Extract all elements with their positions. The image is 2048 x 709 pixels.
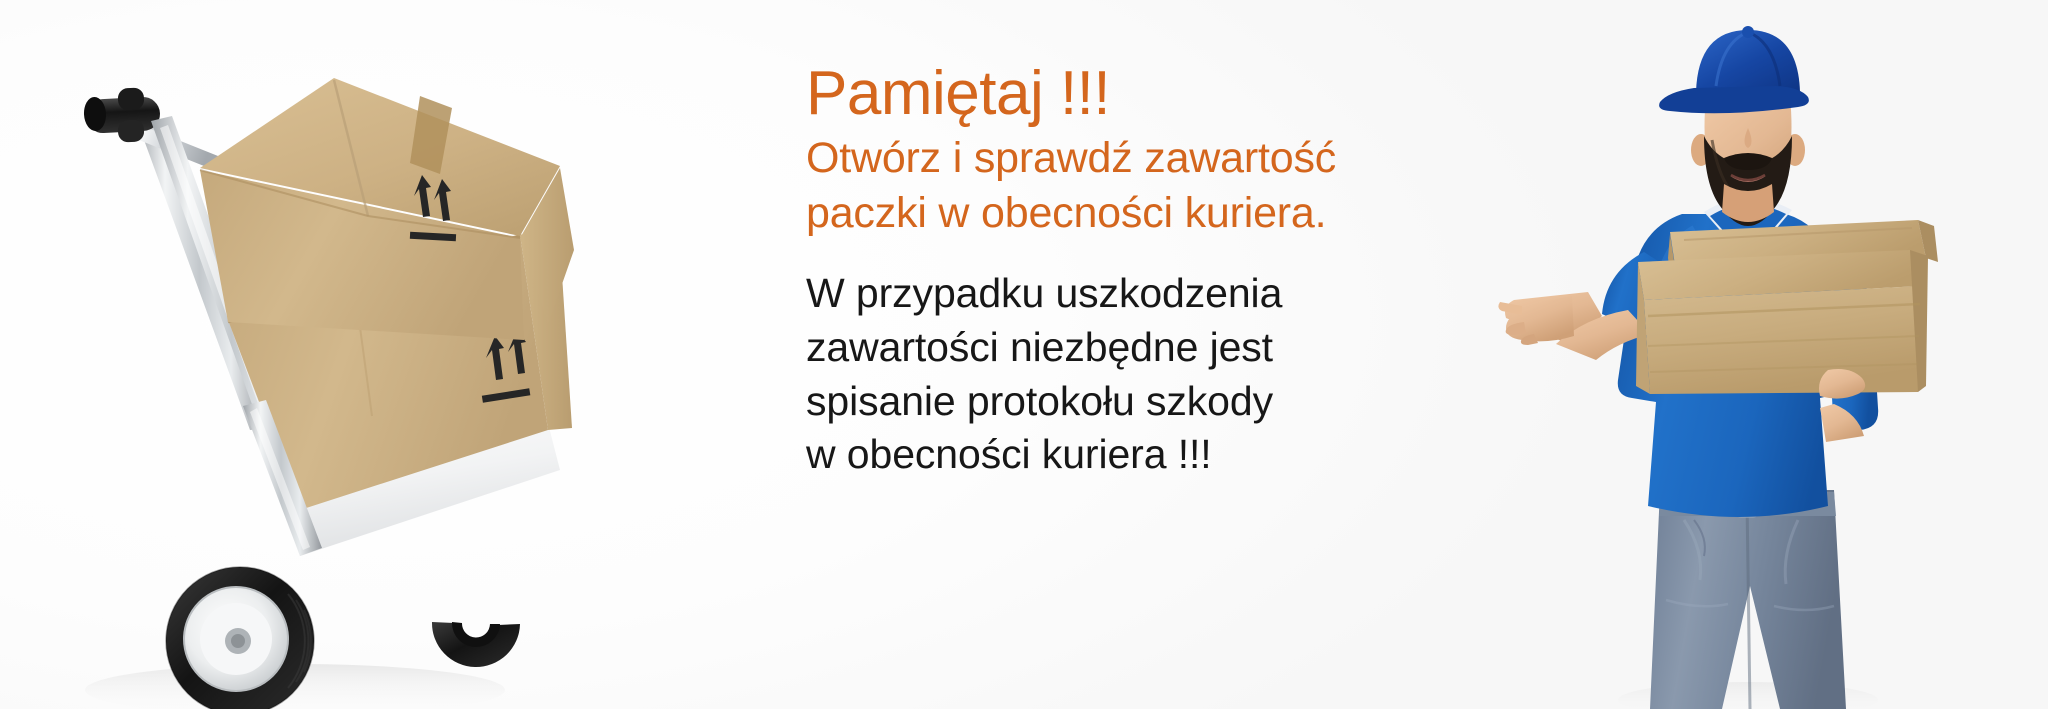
banner-subheadline-line-1: Otwórz i sprawdź zawartość bbox=[806, 131, 1506, 186]
upper-carton bbox=[200, 78, 574, 340]
delivery-man-illustration bbox=[1498, 0, 2048, 709]
hand-truck-illustration bbox=[0, 0, 640, 709]
courier-baseball-cap bbox=[1659, 26, 1809, 113]
courier-carton-lower bbox=[1636, 250, 1928, 394]
hand-truck-large-wheel bbox=[166, 567, 314, 709]
courier-boxes bbox=[1636, 220, 1938, 394]
banner-text-block: Pamiętaj !!! Otwórz i sprawdź zawartość … bbox=[806, 62, 1506, 482]
promo-banner: Pamiętaj !!! Otwórz i sprawdź zawartość … bbox=[0, 0, 2048, 709]
banner-body-line-3: spisanie protokołu szkody bbox=[806, 375, 1506, 429]
banner-body-text: W przypadku uszkodzenia zawartości niezb… bbox=[806, 267, 1506, 482]
banner-body-line-4: w obecności kuriera !!! bbox=[806, 428, 1506, 482]
banner-body-line-2: zawartości niezbędne jest bbox=[806, 321, 1506, 375]
courier-jeans bbox=[1650, 490, 1846, 709]
banner-body-line-1: W przypadku uszkodzenia bbox=[806, 267, 1506, 321]
banner-subheadline-line-2: paczki w obecności kuriera. bbox=[806, 186, 1506, 241]
banner-headline: Pamiętaj !!! bbox=[806, 62, 1506, 125]
hand-truck-caster-wheel bbox=[430, 570, 522, 667]
